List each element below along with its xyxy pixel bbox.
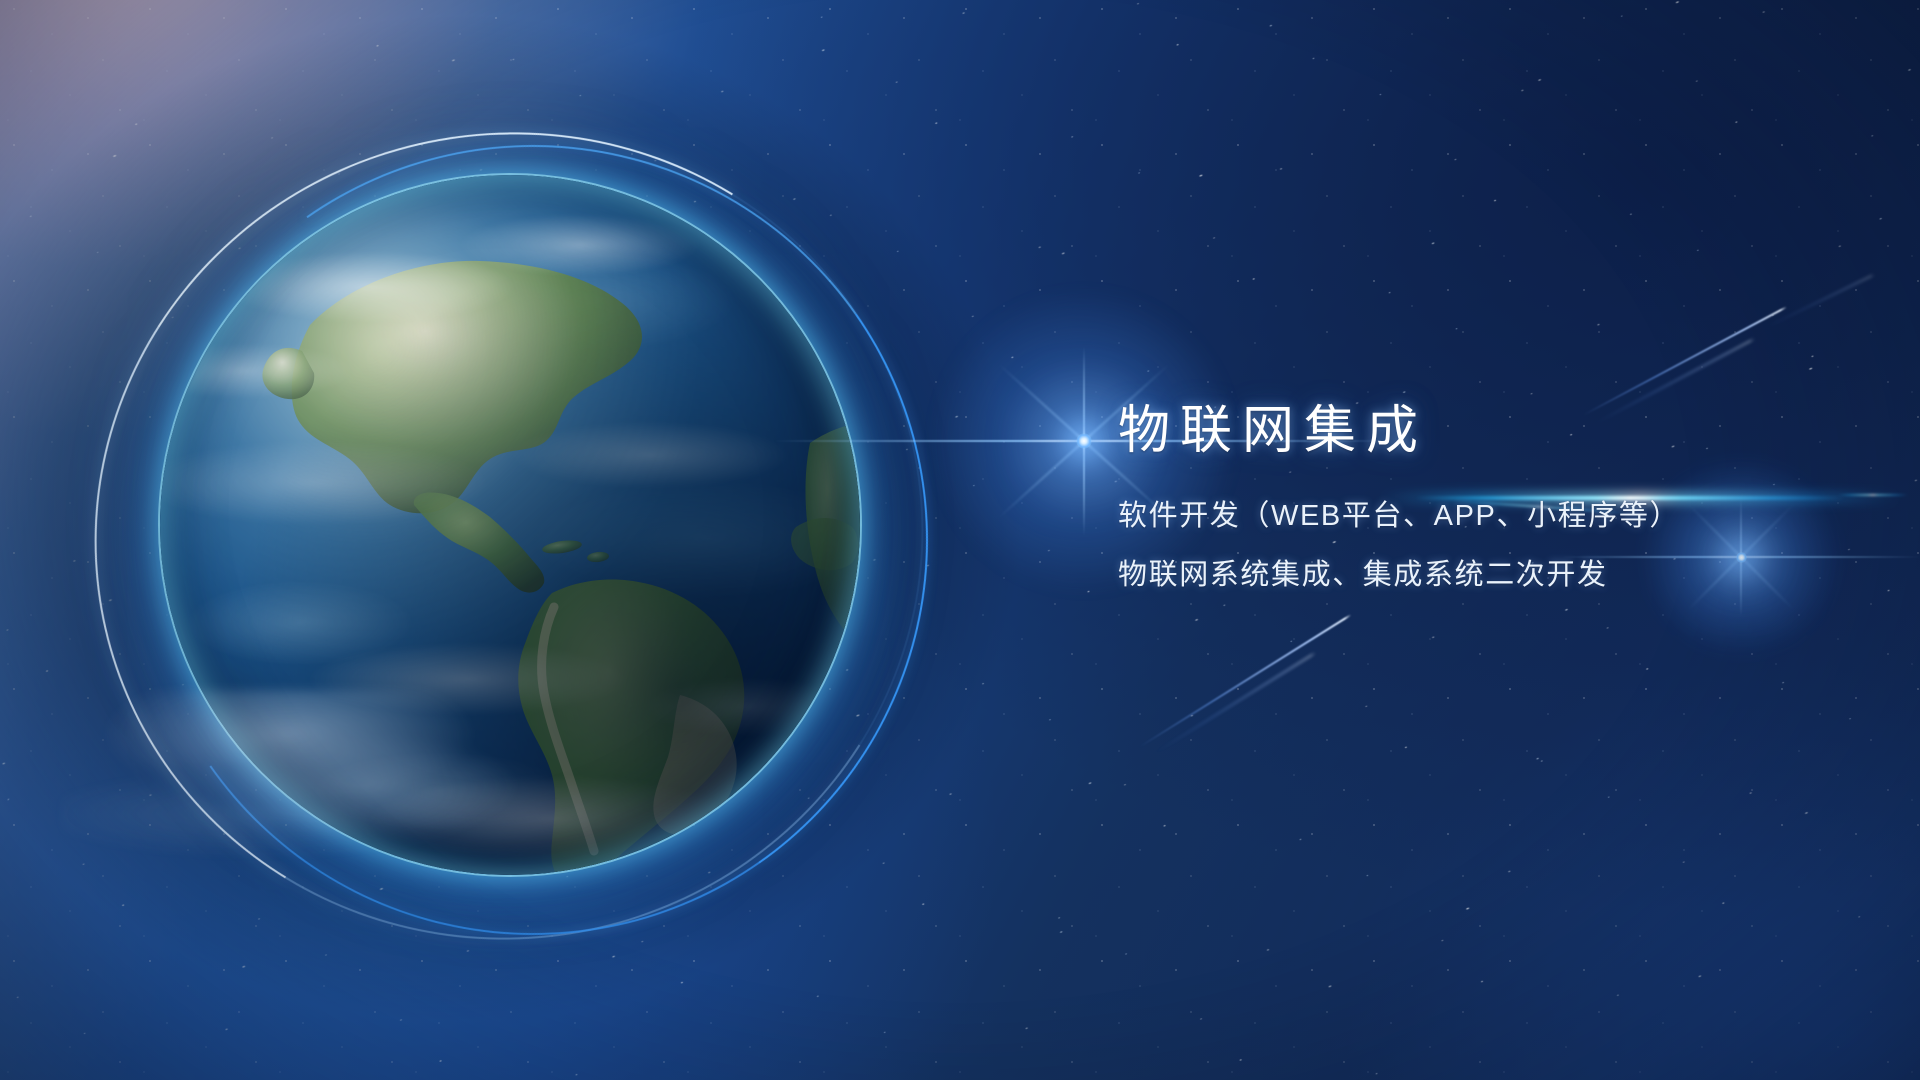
earth-globe	[130, 155, 890, 915]
flare-core	[1076, 433, 1092, 449]
meteor-streak-1	[1583, 306, 1787, 416]
banner-copy: 物联网集成 软件开发（WEB平台、APP、小程序等） 物联网系统集成、集成系统二…	[1118, 402, 1878, 590]
page-title: 物联网集成	[1118, 402, 1878, 460]
meteor-streak-5	[1766, 274, 1875, 328]
subtitle-line-1: 软件开发（WEB平台、APP、小程序等）	[1118, 502, 1878, 531]
lens-flare-primary	[1083, 440, 1085, 442]
flare-vertical-ray	[1083, 346, 1085, 536]
hero-banner: 物联网集成 软件开发（WEB平台、APP、小程序等） 物联网系统集成、集成系统二…	[0, 0, 1920, 1080]
meteor-streak-4	[1154, 652, 1316, 754]
meteor-streak-3	[1138, 614, 1351, 748]
subtitle-line-2: 物联网系统集成、集成系统二次开发	[1118, 561, 1878, 590]
